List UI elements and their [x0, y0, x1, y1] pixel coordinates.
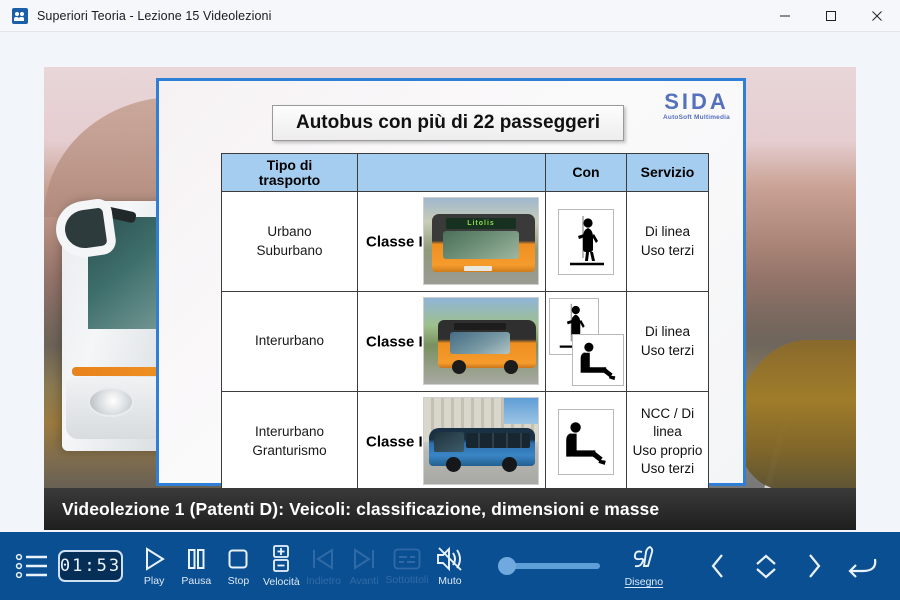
- people-icon: [12, 8, 28, 24]
- play-icon: [140, 545, 168, 573]
- skip-forward-icon: [350, 545, 378, 573]
- skip-back-icon: [309, 545, 337, 573]
- service-line-1: Di linea: [627, 323, 708, 341]
- stop-icon: [224, 545, 252, 573]
- service-line-2: Uso proprio: [627, 442, 708, 460]
- transport-line1: Interurbano: [222, 332, 357, 350]
- service-line-1: Di linea: [627, 223, 708, 241]
- column-header-blank: [358, 154, 546, 192]
- previous-button[interactable]: [694, 532, 742, 600]
- back-button[interactable]: [838, 532, 886, 600]
- service-line-3: Uso terzi: [627, 460, 708, 478]
- cell-service: Di linea Uso terzi: [627, 192, 709, 292]
- pen-icon: [629, 544, 659, 574]
- app-window: Superiori Teoria - Lezione 15 Videolezio…: [0, 0, 900, 600]
- return-arrow-icon: [845, 551, 879, 581]
- orange-city-bus-photo: Litolis: [423, 197, 539, 285]
- maximize-button[interactable]: [808, 0, 854, 32]
- drawing-label: Disegno: [625, 577, 664, 588]
- subtitles-icon: [392, 546, 422, 572]
- service-line-2: Uso terzi: [627, 342, 708, 360]
- transport-line1: Interurbano: [222, 423, 357, 441]
- cell-transport: Interurbano Granturismo: [222, 392, 358, 492]
- minimize-icon: [779, 10, 791, 22]
- table-row: Interurbano Granturismo Classe III: [222, 392, 709, 492]
- transport-line2: Granturismo: [222, 442, 357, 460]
- cell-class: Classe I Litolis: [358, 192, 546, 292]
- cell-con: [546, 292, 627, 392]
- slide-panel: SIDA AutoSoft Multimedia Autobus con più…: [156, 78, 746, 486]
- seated-passenger-icon: [558, 409, 614, 475]
- speed-button[interactable]: Velocità: [260, 532, 304, 600]
- service-line-2: Uso terzi: [627, 242, 708, 260]
- list-icon: [15, 553, 49, 579]
- player-toolbar: 01:53 Play Pausa Stop: [0, 532, 900, 600]
- table-row: Interurbano Classe II: [222, 292, 709, 392]
- cell-service: Di linea Uso terzi: [627, 292, 709, 392]
- expand-button[interactable]: [742, 532, 790, 600]
- pause-icon: [182, 545, 210, 573]
- bus-plate-shape: [464, 266, 492, 271]
- column-header-transport-line2: trasporto: [222, 173, 357, 188]
- volume-slider-knob[interactable]: [498, 557, 516, 575]
- coach-windshield-shape: [434, 432, 464, 452]
- play-button[interactable]: Play: [133, 532, 175, 600]
- cell-transport: Urbano Suburbano: [222, 192, 358, 292]
- column-header-transport-line1: Tipo di: [222, 158, 357, 173]
- bus-destination-display: [454, 323, 506, 330]
- service-line-1: NCC / Di linea: [627, 405, 708, 441]
- minimize-button[interactable]: [762, 0, 808, 32]
- column-header-con: Con: [546, 154, 627, 192]
- chevron-up-down-icon: [751, 551, 781, 581]
- sida-logo: SIDA AutoSoft Multimedia: [663, 91, 730, 121]
- playlist-button[interactable]: [14, 532, 50, 600]
- bus-destination-display: Litolis: [446, 218, 516, 229]
- cell-class: Classe III: [358, 392, 546, 492]
- skip-back-button[interactable]: Indietro: [303, 532, 344, 600]
- pause-label: Pausa: [181, 576, 211, 587]
- sida-logo-subtitle: AutoSoft Multimedia: [663, 114, 730, 121]
- column-header-servizio: Servizio: [627, 154, 709, 192]
- classification-table: Tipo di trasporto Con Servizio Ur: [221, 153, 709, 492]
- coach-wheel-shape: [446, 457, 461, 472]
- title-bar: Superiori Teoria - Lezione 15 Videolezio…: [0, 0, 900, 32]
- orange-interurban-bus-photo: [423, 297, 539, 385]
- sida-logo-text: SIDA: [663, 91, 730, 113]
- mute-button[interactable]: Muto: [430, 532, 471, 600]
- drawing-button[interactable]: Disegno: [620, 532, 668, 600]
- video-stage[interactable]: SIDA AutoSoft Multimedia Autobus con più…: [44, 67, 856, 530]
- table-row: Urbano Suburbano Classe I Litolis: [222, 192, 709, 292]
- skip-forward-button[interactable]: Avanti: [344, 532, 385, 600]
- coach-headlamp-shape: [88, 387, 134, 417]
- speed-plus-minus-icon: [267, 544, 295, 574]
- cell-class: Classe II: [358, 292, 546, 392]
- class-label: Classe II: [366, 333, 427, 350]
- subtitles-label: Sottotitoli: [385, 575, 428, 586]
- close-button[interactable]: [854, 0, 900, 32]
- playback-timer: 01:53: [58, 550, 123, 582]
- bus-wheel-shape: [452, 360, 466, 374]
- class-label: Classe III: [366, 433, 431, 450]
- table-header-row: Tipo di trasporto Con Servizio: [222, 154, 709, 192]
- coach-side-windows-shape: [466, 433, 530, 448]
- cell-con: [546, 192, 627, 292]
- window-title: Superiori Teoria - Lezione 15 Videolezio…: [37, 9, 271, 23]
- cell-con: [546, 392, 627, 492]
- play-label: Play: [144, 576, 164, 587]
- seated-passenger-icon: [572, 334, 624, 386]
- chevron-right-icon: [801, 551, 827, 581]
- next-button[interactable]: [790, 532, 838, 600]
- maximize-icon: [825, 10, 837, 22]
- skip-forward-label: Avanti: [350, 576, 379, 587]
- class-label: Classe I: [366, 233, 423, 250]
- speed-label: Velocità: [263, 577, 300, 588]
- video-area: SIDA AutoSoft Multimedia Autobus con più…: [0, 32, 900, 532]
- blue-touring-coach-photo: [423, 397, 539, 485]
- pause-button[interactable]: Pausa: [175, 532, 217, 600]
- chevron-left-icon: [705, 551, 731, 581]
- bus-windshield-shape: [443, 231, 519, 259]
- stop-button[interactable]: Stop: [217, 532, 259, 600]
- navigation-group: [694, 532, 886, 600]
- close-icon: [871, 10, 883, 22]
- window-controls: [762, 0, 900, 32]
- transport-line2: Suburbano: [222, 242, 357, 260]
- standing-passenger-icon: [558, 209, 614, 275]
- cell-service: NCC / Di linea Uso proprio Uso terzi: [627, 392, 709, 492]
- transport-line1: Urbano: [222, 223, 357, 241]
- skip-back-label: Indietro: [306, 576, 341, 587]
- sky-shape: [504, 398, 538, 424]
- stop-label: Stop: [228, 576, 250, 587]
- volume-slider[interactable]: [498, 532, 599, 600]
- bus-windshield-shape: [450, 332, 510, 354]
- cell-transport: Interurbano: [222, 292, 358, 392]
- video-caption: Videolezione 1 (Patenti D): Veicoli: cla…: [44, 488, 856, 530]
- subtitles-button[interactable]: Sottotitoli: [384, 532, 429, 600]
- speaker-muted-icon: [435, 545, 465, 573]
- column-header-transport: Tipo di trasporto: [222, 154, 358, 192]
- mute-label: Muto: [438, 576, 461, 587]
- slide-title: Autobus con più di 22 passeggeri: [272, 105, 624, 141]
